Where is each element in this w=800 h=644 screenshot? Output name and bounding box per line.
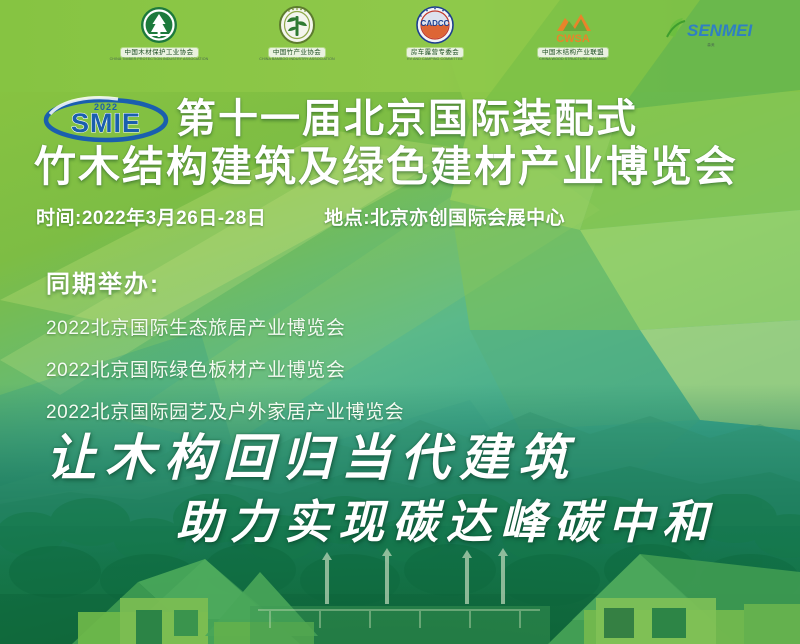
concurrent-event-item: 2022北京国际生态旅居产业博览会	[46, 313, 404, 340]
logo-label: 房车露营专委会	[407, 48, 463, 57]
logo-label: 中国竹产业协会	[269, 48, 325, 57]
headline-line-2: 竹木结构建筑及绿色建材产业博览会	[34, 140, 790, 194]
smie-acronym: SMIE	[71, 108, 141, 138]
page-title-second-line: 竹木结构建筑及绿色建材产业博览会	[34, 140, 790, 194]
leaf-sprout-icon: SENMEI	[663, 13, 759, 43]
expo-poster: 中国木材保护工业协会 CHINA TIMBER PROTECTION INDUS…	[0, 0, 800, 644]
slogan-line-2: 助力实现碳达峰碳中和	[176, 486, 716, 552]
svg-text:CWSA: CWSA	[556, 33, 590, 45]
house-roof-icon: CWSA	[551, 5, 595, 47]
logo-sublabel: CHINA BAMBOO INDUSTRY ASSOCIATION	[259, 57, 334, 61]
smie-logo[interactable]: 2022 SMIE	[40, 92, 172, 144]
cadcc-rv-camping-committee-logo[interactable]: CADCC 房车露营专委会 RV AND CAMPING COMMITTEE	[383, 5, 487, 67]
association-logo-strip: 中国木材保护工业协会 CHINA TIMBER PROTECTION INDUS…	[0, 0, 800, 72]
logo-sublabel: 森美	[707, 43, 714, 48]
cadcc-roundel-icon: CADCC	[413, 5, 457, 47]
logo-label: 中国木材保护工业协会	[121, 48, 198, 57]
cwsa-wood-structure-alliance-logo[interactable]: CWSA 中国木结构产业联盟 CHINA WOOD STRUCTURE ALLI…	[521, 5, 625, 67]
svg-text:CADCC: CADCC	[421, 19, 450, 28]
event-venue: 地点:北京亦创国际会展中心	[324, 203, 565, 230]
event-meta: 时间:2022年3月26日-28日 地点:北京亦创国际会展中心	[36, 203, 565, 230]
page-title: 第十一届北京国际装配式	[176, 94, 788, 144]
concurrent-event-item: 2022北京国际绿色板材产业博览会	[46, 355, 404, 382]
svg-text:SENMEI: SENMEI	[687, 21, 753, 40]
bamboo-oval-seal-icon	[275, 5, 319, 47]
headline-line-1: 第十一届北京国际装配式	[176, 94, 788, 144]
pine-tree-roundel-icon	[137, 5, 181, 47]
slogan-line-1: 让木构回归当代建筑	[46, 418, 577, 490]
concurrent-events: 同期举办: 2022北京国际生态旅居产业博览会 2022北京国际绿色板材产业博览…	[46, 264, 404, 439]
event-date: 时间:2022年3月26日-28日	[36, 203, 266, 230]
logo-sublabel: CHINA WOOD STRUCTURE ALLIANCE	[539, 57, 607, 61]
china-timber-protection-association-logo[interactable]: 中国木材保护工业协会 CHINA TIMBER PROTECTION INDUS…	[107, 5, 211, 67]
senmei-logo[interactable]: SENMEI 森美	[659, 5, 763, 67]
concurrent-events-title: 同期举办:	[46, 264, 404, 299]
logo-sublabel: RV AND CAMPING COMMITTEE	[407, 57, 463, 61]
bamboo-industry-association-logo[interactable]: 中国竹产业协会 CHINA BAMBOO INDUSTRY ASSOCIATIO…	[245, 5, 349, 67]
logo-label: 中国木结构产业联盟	[538, 48, 608, 57]
logo-sublabel: CHINA TIMBER PROTECTION INDUSTRY ASSOCIA…	[110, 57, 209, 61]
